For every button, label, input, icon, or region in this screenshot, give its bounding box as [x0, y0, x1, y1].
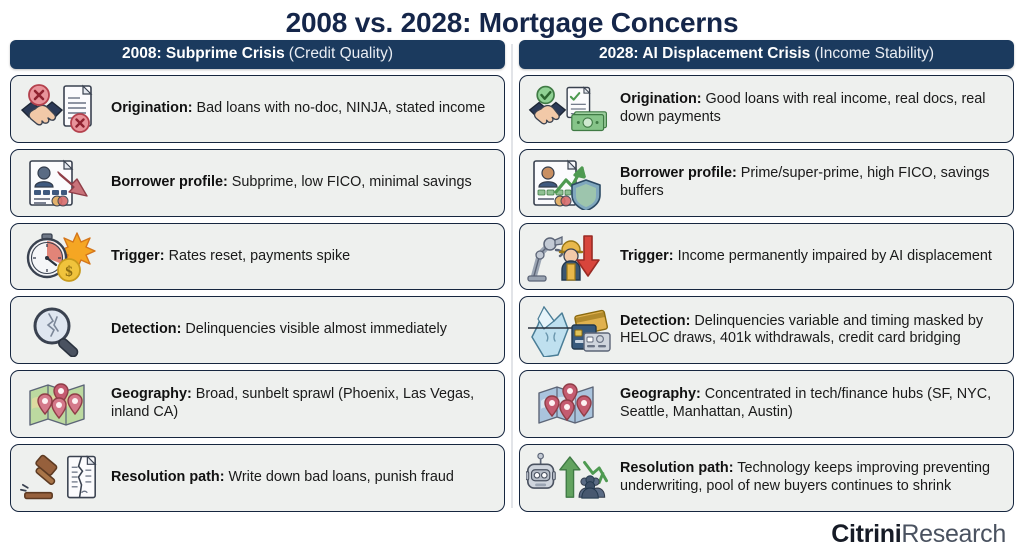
svg-text:$: $ [65, 264, 73, 280]
robot-arrows-crowd-icon [526, 450, 612, 506]
column-header-2008-light: (Credit Quality) [289, 45, 393, 63]
map-pins-icon [17, 376, 103, 432]
column-header-2008-strong: 2008: Subprime Crisis [122, 45, 285, 63]
gavel-torn-document-icon [17, 450, 103, 506]
card-text-trigger-2028: Trigger: Income permanently impaired by … [620, 248, 992, 266]
card-body: Rates reset, payments spike [165, 248, 351, 264]
card-body: Subprime, low FICO, minimal savings [228, 174, 472, 190]
handshake-bad-loan-icon [17, 81, 103, 137]
card-detection-2008[interactable]: Detection: Delinquencies visible almost … [10, 296, 505, 364]
card-text-origination-2008: Origination: Bad loans with no-doc, NINJ… [111, 100, 485, 118]
divider-line [511, 44, 513, 508]
card-label: Trigger: [620, 248, 674, 264]
card-label: Trigger: [111, 248, 165, 264]
card-text-origination-2028: Origination: Good loans with real income… [620, 91, 1005, 127]
card-label: Borrower profile: [620, 165, 737, 181]
card-resolution-2008[interactable]: Resolution path: Write down bad loans, p… [10, 444, 505, 512]
stopwatch-payment-spike-icon: $ [17, 229, 103, 285]
card-origination-2028[interactable]: Origination: Good loans with real income… [519, 75, 1014, 143]
column-divider [505, 40, 519, 512]
brand-name-primary: Citrini [831, 520, 901, 548]
card-text-borrower-profile-2028: Borrower profile: Prime/super-prime, hig… [620, 165, 1005, 201]
card-label: Detection: [111, 321, 181, 337]
card-text-trigger-2008: Trigger: Rates reset, payments spike [111, 248, 350, 266]
card-trigger-2008[interactable]: $ Trigger: Rates reset, payments spike [10, 223, 505, 291]
card-detection-2028[interactable]: Detection: Delinquencies variable and ti… [519, 296, 1014, 364]
card-resolution-2028[interactable]: Resolution path: Technology keeps improv… [519, 444, 1014, 512]
card-text-detection-2028: Detection: Delinquencies variable and ti… [620, 313, 1005, 349]
card-origination-2008[interactable]: Origination: Bad loans with no-doc, NINJ… [10, 75, 505, 143]
card-label: Resolution path: [620, 460, 734, 476]
card-text-borrower-profile-2008: Borrower profile: Subprime, low FICO, mi… [111, 174, 472, 192]
card-label: Origination: [620, 91, 702, 107]
card-body: Bad loans with no-doc, NINJA, stated inc… [193, 100, 486, 116]
brand-logo: CitriniResearch [831, 520, 1006, 549]
column-2008: 2008: Subprime Crisis (Credit Quality) [10, 40, 505, 512]
card-body: Write down bad loans, punish fraud [225, 469, 454, 485]
comparison-columns: 2008: Subprime Crisis (Credit Quality) [0, 40, 1024, 512]
card-text-geography-2008: Geography: Broad, sunbelt sprawl (Phoeni… [111, 386, 496, 422]
map-pins-blue-icon [526, 376, 612, 432]
card-label: Borrower profile: [111, 174, 228, 190]
card-geography-2028[interactable]: Geography: Concentrated in tech/finance … [519, 370, 1014, 438]
column-header-2008: 2008: Subprime Crisis (Credit Quality) [10, 40, 505, 69]
page-title: 2008 vs. 2028: Mortgage Concerns [0, 0, 1024, 40]
card-body: Delinquencies visible almost immediately [181, 321, 447, 337]
brand-name-secondary: Research [901, 520, 1006, 548]
card-label: Geography: [111, 386, 192, 402]
card-label: Detection: [620, 313, 690, 329]
column-header-2028-light: (Income Stability) [814, 45, 934, 63]
card-geography-2008[interactable]: Geography: Broad, sunbelt sprawl (Phoeni… [10, 370, 505, 438]
column-header-2028-strong: 2028: AI Displacement Crisis [599, 45, 810, 63]
magnifier-crack-icon [17, 302, 103, 358]
card-label: Resolution path: [111, 469, 225, 485]
card-text-geography-2028: Geography: Concentrated in tech/finance … [620, 386, 1005, 422]
borrower-profile-up-shield-icon [526, 155, 612, 211]
card-body: Income permanently impaired by AI displa… [674, 248, 992, 264]
footer: CitriniResearch [0, 512, 1024, 557]
card-borrower-profile-2008[interactable]: Borrower profile: Subprime, low FICO, mi… [10, 149, 505, 217]
column-header-2028: 2028: AI Displacement Crisis (Income Sta… [519, 40, 1014, 69]
robot-arm-worker-down-icon [526, 229, 612, 285]
column-2028: 2028: AI Displacement Crisis (Income Sta… [519, 40, 1014, 512]
card-label: Geography: [620, 386, 701, 402]
card-label: Origination: [111, 100, 193, 116]
borrower-profile-down-icon [17, 155, 103, 211]
card-trigger-2028[interactable]: Trigger: Income permanently impaired by … [519, 223, 1014, 291]
card-text-resolution-2028: Resolution path: Technology keeps improv… [620, 460, 1005, 496]
handshake-good-loan-cash-icon [526, 81, 612, 137]
card-text-resolution-2008: Resolution path: Write down bad loans, p… [111, 469, 454, 487]
iceberg-credit-cards-icon [526, 302, 612, 358]
card-text-detection-2008: Detection: Delinquencies visible almost … [111, 321, 447, 339]
card-borrower-profile-2028[interactable]: Borrower profile: Prime/super-prime, hig… [519, 149, 1014, 217]
